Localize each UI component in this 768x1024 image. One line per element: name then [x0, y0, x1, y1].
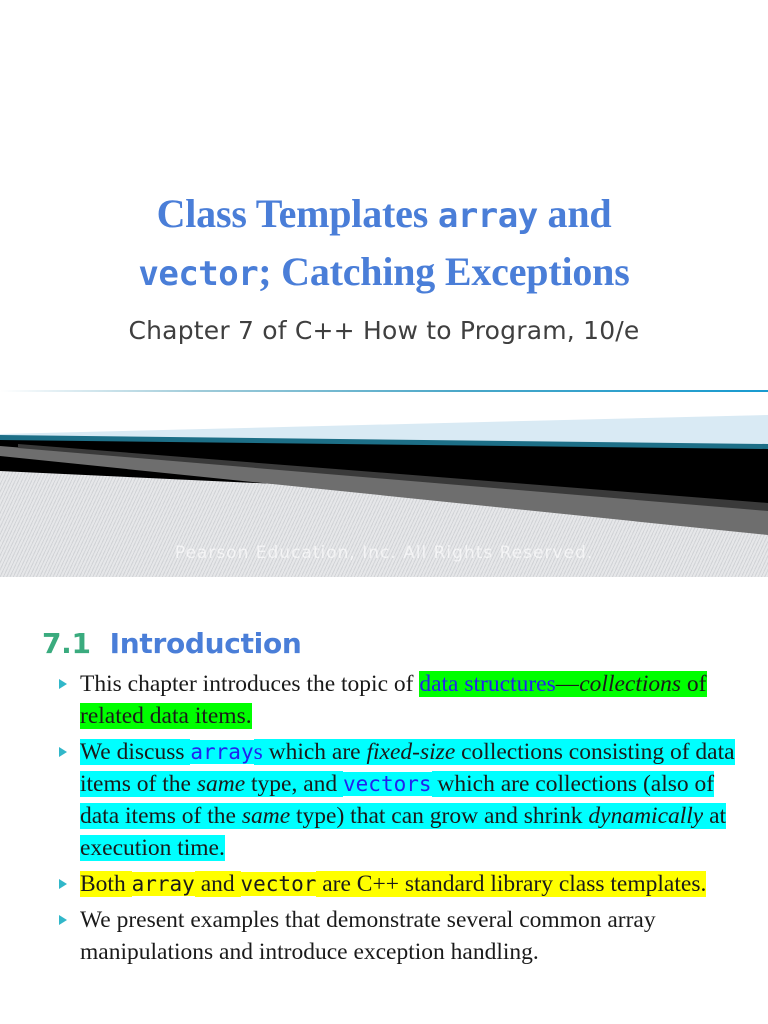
banner-watermark-text: Pearson Education, Inc. All Rights Reser…	[0, 543, 768, 563]
text-run: same	[242, 803, 290, 829]
title-code-array: array	[438, 196, 538, 236]
text-run: vector	[241, 872, 317, 896]
text-run: array	[132, 872, 195, 896]
title-line1-suffix: and	[538, 191, 612, 236]
text-run: s	[254, 739, 263, 765]
bullet-list: This chapter introduces the topic of dat…	[0, 668, 768, 968]
text-run: We discuss	[80, 739, 190, 765]
text-run: collections	[579, 671, 681, 697]
text-run: type, and	[245, 771, 343, 797]
title-block: Class Templates array and vector; Catchi…	[0, 0, 768, 345]
text-run: type) that can grow and shrink	[290, 803, 588, 829]
text-run: —	[556, 671, 580, 697]
section-title: Introduction	[110, 627, 302, 660]
text-run: same	[197, 771, 245, 797]
text-run: data structures	[419, 671, 555, 697]
title-code-vector: vector	[138, 254, 258, 294]
text-run: We present examples that demonstrate sev…	[80, 907, 656, 965]
text-run: fixed-size	[367, 739, 456, 765]
title-line2-suffix: ; Catching Exceptions	[258, 249, 629, 294]
text-run: and	[195, 871, 241, 897]
text-run: array	[190, 740, 253, 764]
title-line1-text: Class Templates	[157, 191, 438, 236]
section-number: 7.1	[42, 627, 91, 660]
decorative-banner: Pearson Education, Inc. All Rights Reser…	[0, 415, 768, 577]
text-run: This chapter introduces the topic of	[80, 671, 419, 697]
bullet-data-structures: This chapter introduces the topic of dat…	[58, 668, 756, 732]
bullet-standard-library: Both array and vector are C++ standard l…	[58, 868, 756, 900]
bullet-arrays-vectors: We discuss arrays which are fixed-size c…	[58, 736, 756, 864]
section-heading: 7.1 Introduction	[42, 627, 768, 660]
text-run: which are	[263, 739, 367, 765]
page-subtitle: Chapter 7 of C++ How to Program, 10/e	[0, 316, 768, 345]
text-run: vectors	[343, 772, 432, 796]
text-run: Both	[80, 871, 132, 897]
slide-content: 7.1 Introduction This chapter introduces…	[0, 627, 768, 972]
header-divider-rule	[0, 390, 768, 392]
bullet-examples: We present examples that demonstrate sev…	[58, 904, 756, 968]
page-title: Class Templates array and vector; Catchi…	[58, 186, 710, 302]
text-run: are C++ standard library class templates…	[316, 871, 706, 897]
text-run: dynamically	[588, 803, 703, 829]
